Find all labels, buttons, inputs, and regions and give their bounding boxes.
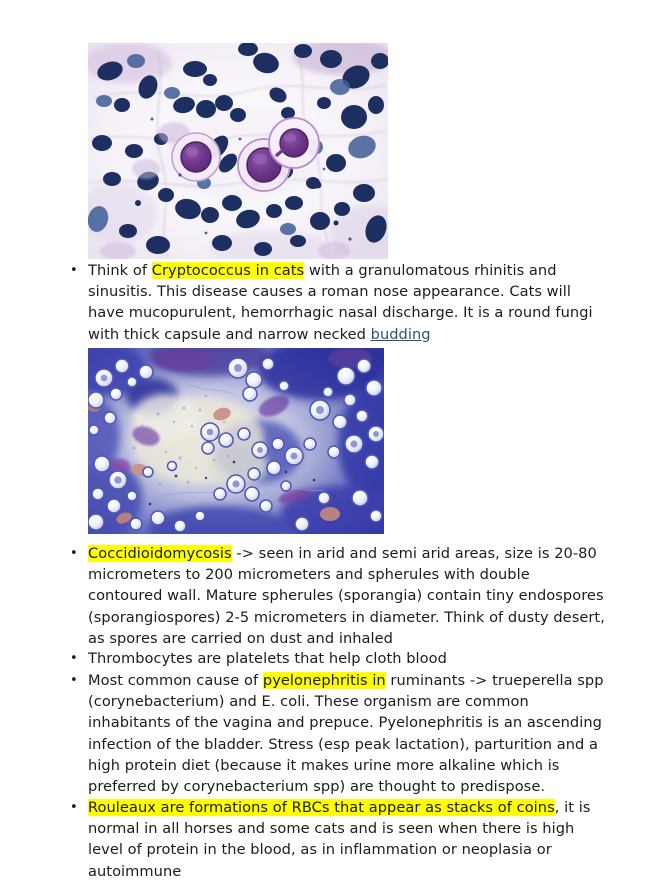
bullet-pyelonephritis: Most common cause of pyelonephritis in r… — [62, 670, 608, 797]
link-budding[interactable]: budding — [371, 326, 431, 343]
coccidioidomycosis-cytology-image — [88, 348, 384, 534]
cryptococcus-cytology-image — [88, 43, 388, 259]
bullet-coccidioidomycosis: Coccidioidomycosis -> seen in arid and s… — [62, 543, 608, 649]
text-thrombocytes: Thrombocytes are platelets that help clo… — [88, 650, 447, 667]
coccidioidomycosis-image-canvas — [88, 348, 384, 534]
bullet-list-cryptococcus: Think of Cryptococcus in cats with a gra… — [62, 260, 608, 345]
highlight-rouleaux: Rouleaux are formations of RBCs that app… — [88, 799, 555, 816]
bullet-list-pyelonephritis: Most common cause of pyelonephritis in r… — [62, 670, 608, 797]
bullet-list-thrombocytes: Thrombocytes are platelets that help clo… — [62, 648, 608, 669]
bullet-list-coccidioidomycosis: Coccidioidomycosis -> seen in arid and s… — [62, 543, 608, 649]
notes-page: Think of Cryptococcus in cats with a gra… — [0, 0, 666, 871]
bullet-rouleaux: Rouleaux are formations of RBCs that app… — [62, 797, 608, 882]
bullet-list-rouleaux: Rouleaux are formations of RBCs that app… — [62, 797, 608, 882]
highlight-coccidioidomycosis: Coccidioidomycosis — [88, 545, 232, 562]
text-pre: Think of — [88, 262, 152, 279]
highlight-cryptococcus-in-cats: Cryptococcus in cats — [152, 262, 304, 279]
cryptococcus-image-canvas — [88, 43, 388, 259]
highlight-pyelonephritis-in: pyelonephritis in — [263, 672, 386, 689]
bullet-cryptococcus: Think of Cryptococcus in cats with a gra… — [62, 260, 608, 345]
text-post: ruminants -> trueperella spp (corynebact… — [88, 672, 604, 795]
text-pre: Most common cause of — [88, 672, 263, 689]
bullet-thrombocytes: Thrombocytes are platelets that help clo… — [62, 648, 608, 669]
